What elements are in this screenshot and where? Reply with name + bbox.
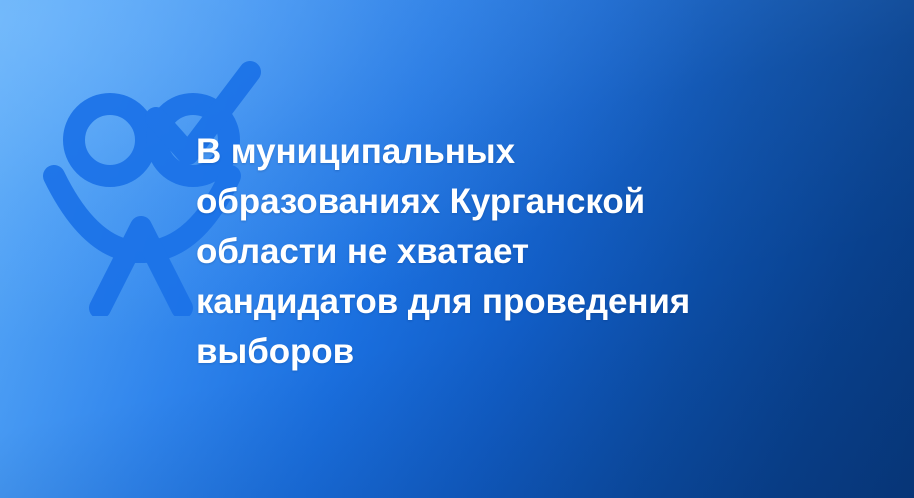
banner-card: В муниципальных образованиях Курганской … (0, 0, 914, 498)
headline-text: В муниципальных образованиях Курганской … (196, 127, 716, 377)
